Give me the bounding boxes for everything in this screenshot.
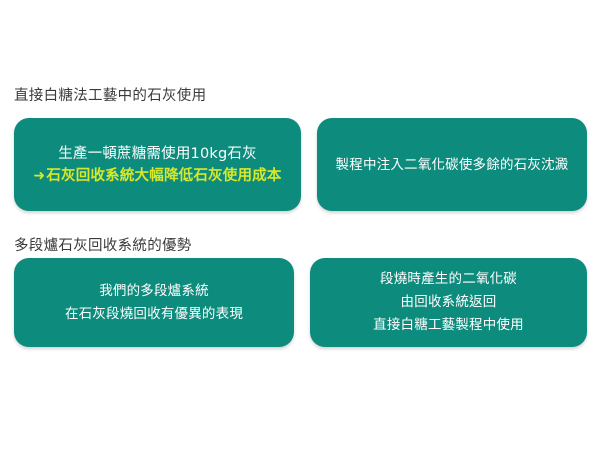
card-lime-usage-line-2: ➜石灰回收系統大幅降低石灰使用成本 — [33, 165, 281, 187]
card-co2-return: 段燒時產生的二氧化碳 由回收系統返回 直接白糖工藝製程中使用 — [310, 258, 587, 347]
card-co2-injection: 製程中注入二氧化碳使多餘的石灰沈澱 — [317, 118, 587, 211]
card-furnace-performance: 我們的多段爐系統 在石灰段燒回收有優異的表現 — [14, 258, 294, 347]
card-co2-return-line-3: 直接白糖工藝製程中使用 — [373, 314, 524, 337]
section-heading-lime-usage: 直接白糖法工藝中的石灰使用 — [14, 87, 206, 105]
slide-canvas: 直接白糖法工藝中的石灰使用 生產一頓蔗糖需使用10kg石灰 ➜石灰回收系統大幅降… — [0, 0, 600, 450]
card-co2-return-line-2: 由回收系統返回 — [401, 291, 497, 314]
card-lime-usage-line-1: 生產一頓蔗糖需使用10kg石灰 — [58, 143, 257, 165]
card-furnace-performance-line-2: 在石灰段燒回收有優異的表現 — [65, 303, 243, 326]
card-lime-usage: 生產一頓蔗糖需使用10kg石灰 ➜石灰回收系統大幅降低石灰使用成本 — [14, 118, 301, 211]
arrow-right-icon: ➜ — [33, 168, 45, 184]
section-heading-furnace-advantages: 多段爐石灰回收系統的優勢 — [14, 237, 192, 255]
card-co2-injection-line-1: 製程中注入二氧化碳使多餘的石灰沈澱 — [336, 154, 569, 176]
card-co2-return-line-1: 段燒時產生的二氧化碳 — [380, 268, 517, 291]
card-furnace-performance-line-1: 我們的多段爐系統 — [99, 280, 209, 303]
card-lime-usage-line-2-text: 石灰回收系統大幅降低石灰使用成本 — [46, 168, 281, 184]
